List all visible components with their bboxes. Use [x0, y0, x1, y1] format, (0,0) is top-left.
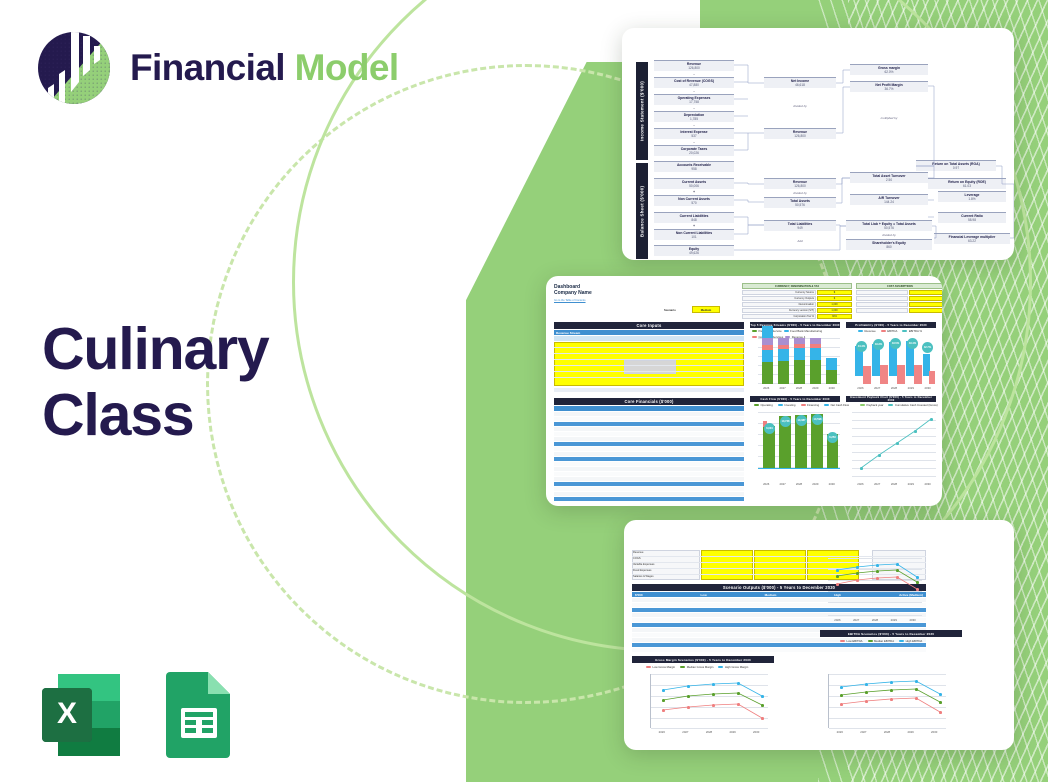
legend-item: Low Gross Margin [653, 665, 676, 669]
scenario-select[interactable]: Medium [692, 306, 720, 313]
legend-item: Payback year [867, 403, 884, 407]
legend-item: Low EBITDA [847, 639, 863, 643]
x-tick: 2030 [829, 482, 835, 486]
x-tick: 2028 [796, 482, 802, 486]
chart-ebitda-top-plot [828, 558, 922, 616]
core-financials-header [554, 406, 744, 411]
core-inputs-total-row [554, 388, 744, 392]
x-tick: 2026 [857, 386, 863, 390]
circle-bar-chart-logo-icon [36, 30, 112, 106]
assumption-row-labels: Revenue COGS Variable Expenses Fixed Exp… [633, 550, 699, 580]
legend-cash-flow: Operating Investing Financing Net Cash F… [754, 403, 849, 407]
legend-item: EBITDA [887, 329, 897, 333]
dupont-flow-diagram: Income Statement ($'000) Balance Sheet (… [628, 34, 1008, 254]
page-title-line1: Culinary [42, 316, 268, 382]
row-label: Denomination [744, 302, 814, 307]
legend-item: Revenue [865, 329, 876, 333]
screenshot-card-flow-diagram[interactable]: Income Statement ($'000) Balance Sheet (… [622, 28, 1014, 260]
legend-item: High EBITDA [906, 639, 923, 643]
col-header-stream: Revenue Stream [556, 331, 580, 335]
x-tick: 2028 [891, 386, 897, 390]
chart-profitability-x-axis: 2026 2027 2028 2029 2030 [852, 386, 936, 390]
core-inputs-header: Revenue Stream [554, 330, 744, 335]
legend-profitability: Revenue EBITDA EBITDA % [858, 329, 922, 333]
x-tick: 2027 [874, 482, 880, 486]
chart-top5-x-axis: 2026 2027 2028 2029 2030 [758, 386, 840, 390]
chart-cash-flow-plot: 6,004 10,738 10,387 10,598 6,253 [758, 412, 840, 480]
x-tick: 2027 [853, 618, 859, 622]
brand-name-accent: Model [295, 47, 399, 88]
x-tick: 2026 [837, 730, 843, 734]
chart-payback-x-axis: 2026 2027 2028 2029 2030 [852, 482, 936, 486]
google-sheets-icon[interactable] [156, 666, 240, 769]
legend-item: Net Cash Flow [831, 403, 849, 407]
col-header: Medium [765, 593, 777, 597]
panel-heading-currency-label: CURRENCY, DENOMINATION & TAX [742, 283, 852, 289]
brand-name-primary: Financial [130, 47, 285, 88]
legend-item: EBITDA % [909, 329, 922, 333]
section-title-core-inputs: Core Inputs [554, 322, 744, 329]
x-tick: 2029 [812, 482, 818, 486]
page-title-line2: Class [42, 382, 268, 448]
legend-item: Median Gross Margin [687, 665, 714, 669]
row-value[interactable]: 1,000 [817, 308, 852, 313]
x-tick: 2027 [874, 386, 880, 390]
dashboard-title-line2: Company Name [554, 290, 592, 296]
chart-gross-margin-plot [650, 674, 768, 728]
row-label: Salaries & Wages [633, 574, 699, 580]
x-tick: 2029 [908, 482, 914, 486]
row-label: Currency Outputs [744, 296, 814, 301]
brand-name: Financial Model [130, 47, 399, 89]
x-tick: 2030 [909, 618, 915, 622]
legend-investment-payback: Payback year Cumulative Cash Invested (G… [860, 403, 938, 407]
row-value[interactable]: 1,000 [817, 302, 852, 307]
section-title-core-financials: Core Financials ($'000) [554, 398, 744, 405]
dashboard-toc-link[interactable]: Go to the Table of Contents [554, 299, 586, 302]
chart-gross-margin-x-axis: 2026 2027 2028 2029 2030 [650, 730, 768, 734]
row-label: Corporation Tax % [744, 314, 814, 319]
legend-ebitda: Low EBITDA Median EBITDA High EBITDA [840, 639, 922, 643]
chart-title-investment-payback: Investment Payback Chart ($'000) - 5 Yea… [846, 396, 936, 402]
col-header: $'000 [635, 593, 643, 597]
x-tick: 2030 [924, 482, 930, 486]
x-tick: 2028 [891, 482, 897, 486]
col-header: Low [701, 593, 707, 597]
row-value[interactable]: $ [817, 290, 852, 295]
svg-text:X: X [57, 697, 77, 730]
chart-title-cash-flow: Cash Flow ($'000) - 5 Years to December … [750, 396, 840, 402]
x-tick: 2029 [908, 386, 914, 390]
x-tick: 2026 [659, 730, 665, 734]
x-tick: 2029 [907, 730, 913, 734]
x-tick: 2026 [763, 386, 769, 390]
x-tick: 2026 [763, 482, 769, 486]
x-tick: 2027 [779, 386, 785, 390]
screenshot-card-dashboard[interactable]: Dashboard Company Name Go to the Table o… [546, 276, 942, 506]
chart-title-gross-margin-scenarios: Gross Margin Scenarios ($'000) - 5 Years… [632, 656, 774, 663]
chart-ebitda-bottom-x-axis: 2026 2027 2028 2029 2030 [828, 730, 946, 734]
x-tick: 2029 [891, 618, 897, 622]
x-tick: 2028 [884, 730, 890, 734]
dashboard-title: Dashboard Company Name [554, 284, 592, 297]
legend-item: Median EBITDA [874, 639, 894, 643]
chart-title-ebitda-scenarios: EBITDA Scenarios ($'000) - 5 Years to De… [820, 630, 962, 637]
brand-logo: Financial Model [36, 30, 399, 106]
core-inputs-subheader [554, 336, 744, 341]
x-tick: 2030 [753, 730, 759, 734]
legend-item: Financing [807, 403, 819, 407]
x-tick: 2026 [834, 618, 840, 622]
slide-canvas: Financial Model Culinary Class X [0, 0, 1048, 782]
x-tick: 2030 [924, 386, 930, 390]
panel-heading-cost-label: COST ASSUMPTIONS [856, 283, 942, 289]
x-tick: 2028 [706, 730, 712, 734]
x-tick: 2028 [872, 618, 878, 622]
chart-title-profitability: Profitability ($'000) - 5 Years to Decem… [846, 322, 936, 328]
x-tick: 2028 [796, 386, 802, 390]
x-tick: 2027 [779, 482, 785, 486]
chart-profitability-plot: 44.4% 43.3% 43.5% 43.4% 42.7% [852, 336, 936, 384]
x-tick: 2030 [931, 730, 937, 734]
x-tick: 2030 [829, 386, 835, 390]
legend-item: Investing [784, 403, 795, 407]
row-value[interactable]: 30% [817, 314, 852, 319]
chart-ebitda-top-x-axis: 2026 2027 2028 2029 2030 [828, 618, 922, 622]
x-tick: 2029 [729, 730, 735, 734]
x-tick: 2027 [682, 730, 688, 734]
legend-item: Operating [761, 403, 773, 407]
legend-gross-margin: Low Gross Margin Median Gross Margin Hig… [646, 665, 748, 669]
file-format-icons: X [32, 666, 240, 769]
x-tick: 2026 [857, 482, 863, 486]
chart-top5-revenue-plot [758, 338, 840, 384]
legend-item: Food Bank Manufacturing [790, 329, 822, 333]
row-value[interactable]: $ [817, 296, 852, 301]
chart-investment-payback-plot [852, 412, 936, 480]
row-label: Currency Source [744, 290, 814, 295]
chart-ebitda-bottom-plot [828, 674, 946, 728]
screenshot-card-scenarios[interactable]: Revenue COGS Variable Expenses Fixed Exp… [624, 520, 1014, 750]
x-tick: 2027 [860, 730, 866, 734]
page-title: Culinary Class [42, 316, 268, 448]
chart-cash-flow-x-axis: 2026 2027 2028 2029 2030 [758, 482, 840, 486]
legend-item: High Gross Margin [725, 665, 748, 669]
x-tick: 2029 [812, 386, 818, 390]
scenario-label: Scenario [664, 308, 676, 312]
legend-item: Cumulative Cash Invested (Gross) [895, 403, 938, 407]
row-label: Currency version (S/T) [744, 308, 814, 313]
microsoft-excel-icon[interactable]: X [32, 666, 130, 769]
flow-connectors [628, 34, 1014, 260]
